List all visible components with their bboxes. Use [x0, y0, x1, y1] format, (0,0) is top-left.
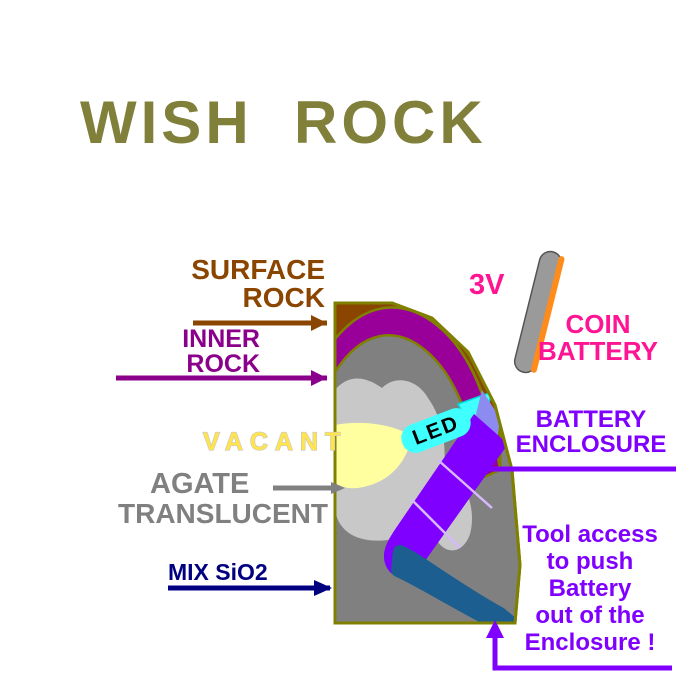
vacant-label: VACANT — [203, 428, 347, 457]
battery-enclosure-label: BATTERY ENCLOSURE — [503, 407, 679, 457]
surface-rock-label: SURFACE ROCK — [95, 256, 325, 312]
mix-sio2-label: MIX SiO2 — [168, 559, 268, 586]
translucent-label: TRANSLUCENT — [118, 500, 328, 528]
wish-rock-diagram: WISH ROCK — [0, 0, 680, 678]
tool-access-label: Tool access to push Battery out of the E… — [500, 522, 680, 656]
agate-label: AGATE — [150, 470, 330, 499]
coin-battery-label: COIN BATTERY — [528, 311, 668, 364]
inner-rock-label: INNER ROCK — [70, 327, 260, 377]
voltage-label: 3V — [469, 269, 504, 302]
